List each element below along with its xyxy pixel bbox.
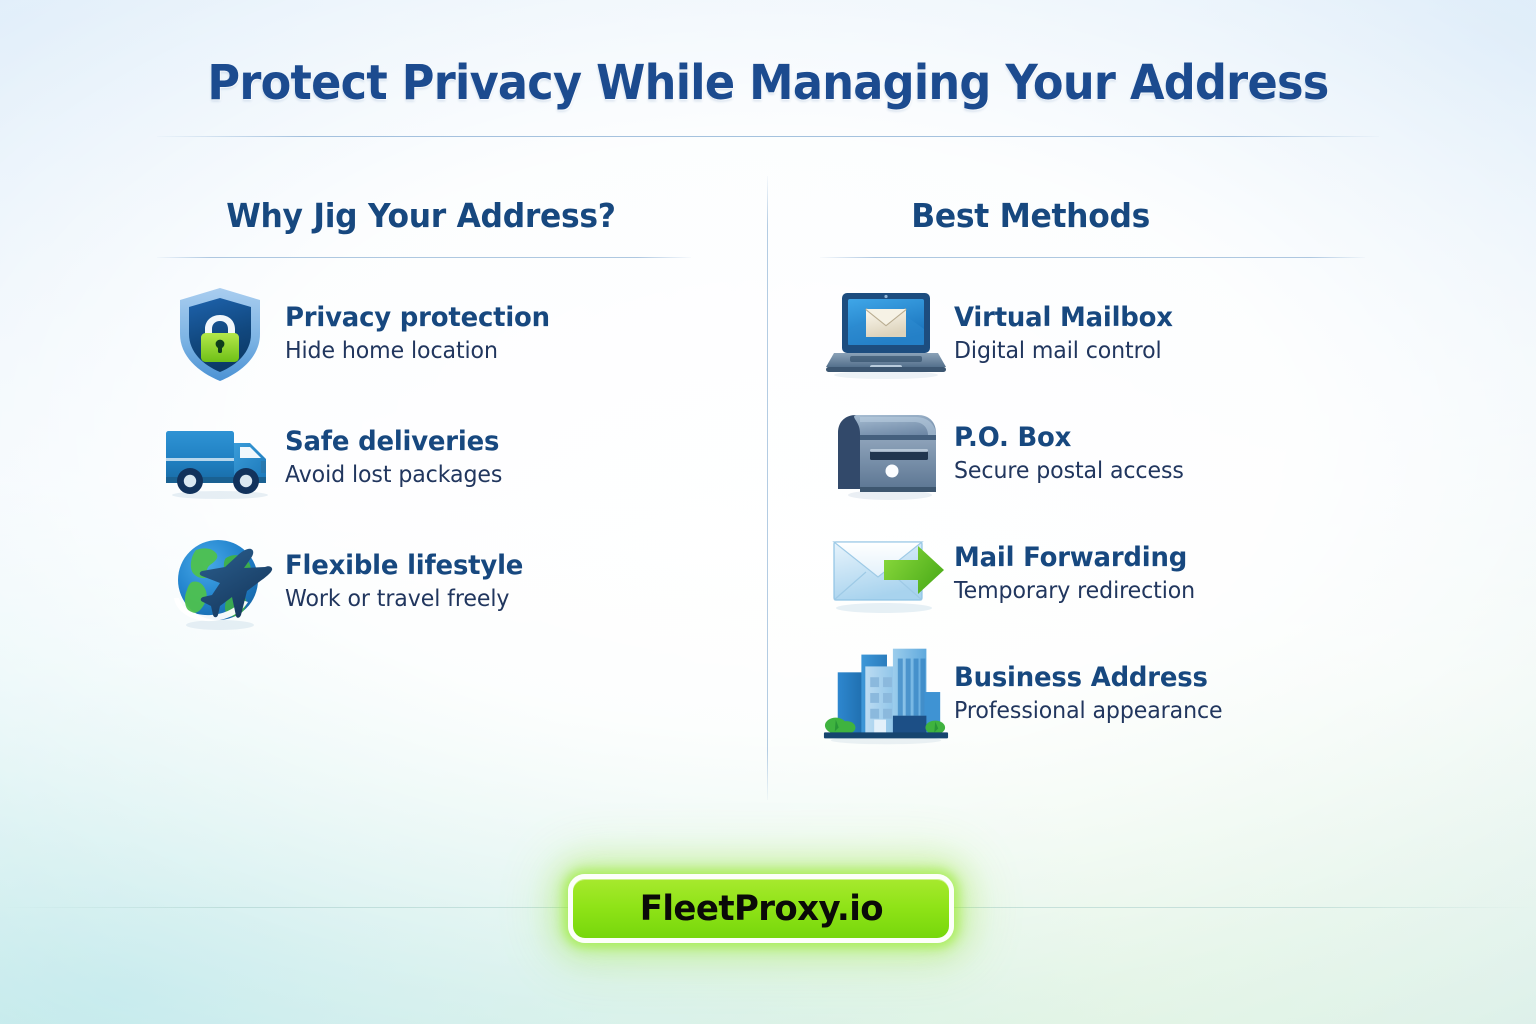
list-item-subtitle: Hide home location xyxy=(285,338,550,366)
list-item-title: Virtual Mailbox xyxy=(954,302,1173,333)
laptop-envelope-icon xyxy=(820,284,952,384)
mailbox-icon xyxy=(820,404,952,504)
list-item-text: Mail Forwarding Temporary redirection xyxy=(952,542,1205,606)
delivery-truck-icon xyxy=(157,408,283,508)
left-column: Why Jig Your Address? xyxy=(157,196,702,656)
list-item: Privacy protection Hide home location xyxy=(157,284,702,384)
list-item: Business Address Professional appearance xyxy=(820,644,1380,744)
list-item-subtitle: Avoid lost packages xyxy=(285,462,502,490)
list-item-text: Virtual Mailbox Digital mail control xyxy=(952,302,1182,366)
list-item-subtitle: Digital mail control xyxy=(954,338,1173,366)
right-column-items: Virtual Mailbox Digital mail control xyxy=(820,284,1380,744)
right-column: Best Methods xyxy=(820,196,1380,764)
shield-lock-icon xyxy=(157,284,283,384)
list-item-text: Safe deliveries Avoid lost packages xyxy=(283,426,511,490)
right-column-title: Best Methods xyxy=(834,196,1366,235)
list-item-title: Flexible lifestyle xyxy=(285,550,523,581)
infographic-poster: Protect Privacy While Managing Your Addr… xyxy=(0,0,1536,1024)
list-item-subtitle: Secure postal access xyxy=(954,458,1184,486)
list-item-title: Privacy protection xyxy=(285,302,550,333)
left-column-title: Why Jig Your Address? xyxy=(171,196,689,235)
brand-label: FleetProxy.io xyxy=(639,889,882,929)
left-column-divider xyxy=(157,257,691,258)
list-item-text: Business Address Professional appearance xyxy=(952,662,1234,726)
list-item: Flexible lifestyle Work or travel freely xyxy=(157,532,702,632)
brand-badge[interactable]: FleetProxy.io xyxy=(568,874,954,943)
list-item: Virtual Mailbox Digital mail control xyxy=(820,284,1380,384)
list-item: P.O. Box Secure postal access xyxy=(820,404,1380,504)
list-item-text: Flexible lifestyle Work or travel freely xyxy=(283,550,533,614)
list-item-title: Safe deliveries xyxy=(285,426,502,457)
left-column-items: Privacy protection Hide home location xyxy=(157,284,702,632)
list-item-text: Privacy protection Hide home location xyxy=(283,302,561,366)
list-item-text: P.O. Box Secure postal access xyxy=(952,422,1193,486)
list-item-title: Mail Forwarding xyxy=(954,542,1195,573)
column-divider xyxy=(767,176,768,800)
list-item: Mail Forwarding Temporary redirection xyxy=(820,524,1380,624)
list-item-title: Business Address xyxy=(954,662,1223,693)
list-item-title: P.O. Box xyxy=(954,422,1184,453)
list-item: Safe deliveries Avoid lost packages xyxy=(157,408,702,508)
list-item-subtitle: Temporary redirection xyxy=(954,578,1195,606)
list-item-subtitle: Work or travel freely xyxy=(285,586,523,614)
office-building-icon xyxy=(820,644,952,744)
globe-airplane-icon xyxy=(157,532,283,632)
page-title: Protect Privacy While Managing Your Addr… xyxy=(54,55,1482,111)
title-divider xyxy=(157,136,1379,137)
list-item-subtitle: Professional appearance xyxy=(954,698,1223,726)
right-column-divider xyxy=(820,257,1365,258)
envelope-arrow-icon xyxy=(820,524,952,624)
